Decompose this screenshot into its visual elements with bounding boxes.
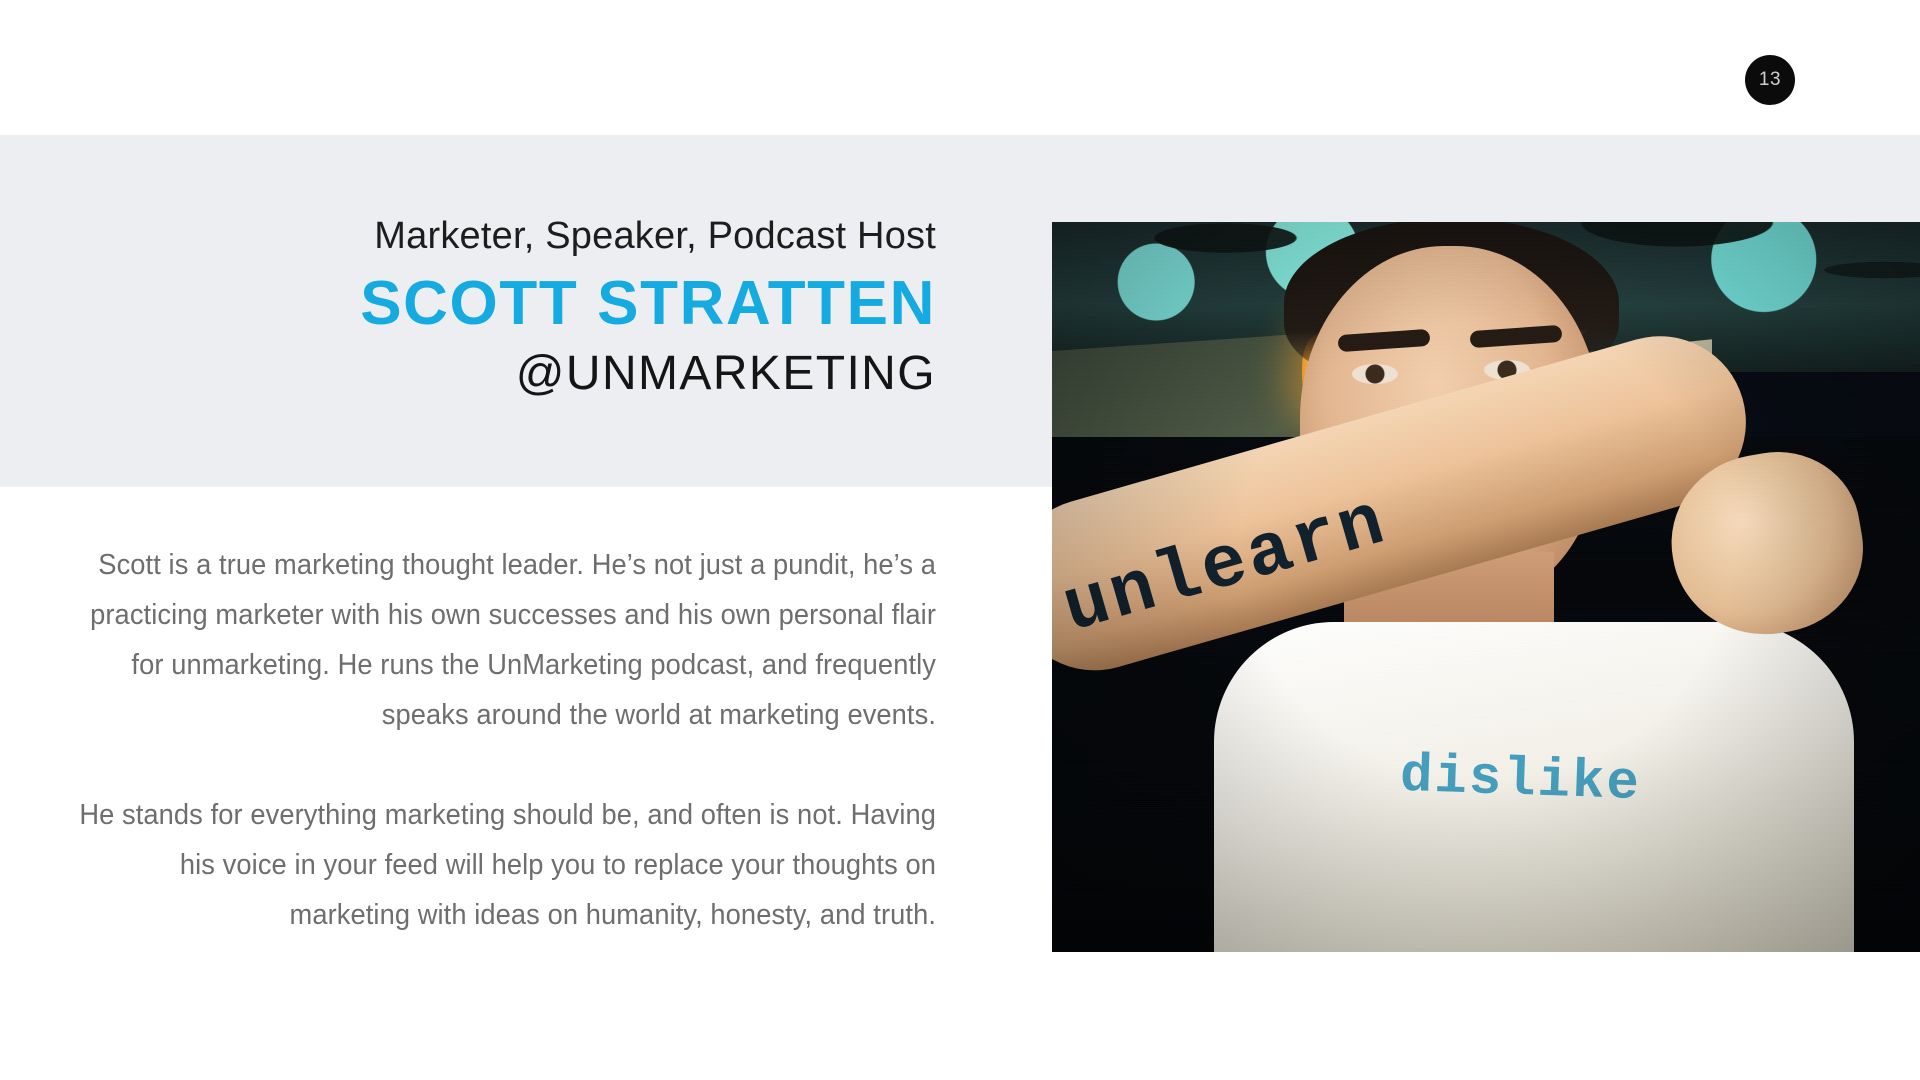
photo-eye-left [1352,364,1398,384]
page-number-badge: 13 [1745,55,1795,105]
speaker-bio: Scott is a true marketing thought leader… [0,540,936,940]
photo-illustration: dislike unlearn [1052,222,1920,952]
speaker-photo: dislike unlearn [1052,222,1920,952]
speaker-name: SCOTT STRATTEN [0,266,936,342]
photo-tshirt-text: dislike [1399,746,1642,815]
bio-paragraph: Scott is a true marketing thought leader… [56,540,936,740]
speaker-social-handle: @UNMARKETING [0,347,936,402]
speaker-headline: Marketer, Speaker, Podcast Host SCOTT ST… [0,215,936,402]
speaker-role-eyebrow: Marketer, Speaker, Podcast Host [0,215,936,258]
slide-canvas: 13 Marketer, Speaker, Podcast Host SCOTT… [0,0,1920,1080]
bio-paragraph: He stands for everything marketing shoul… [56,790,936,940]
